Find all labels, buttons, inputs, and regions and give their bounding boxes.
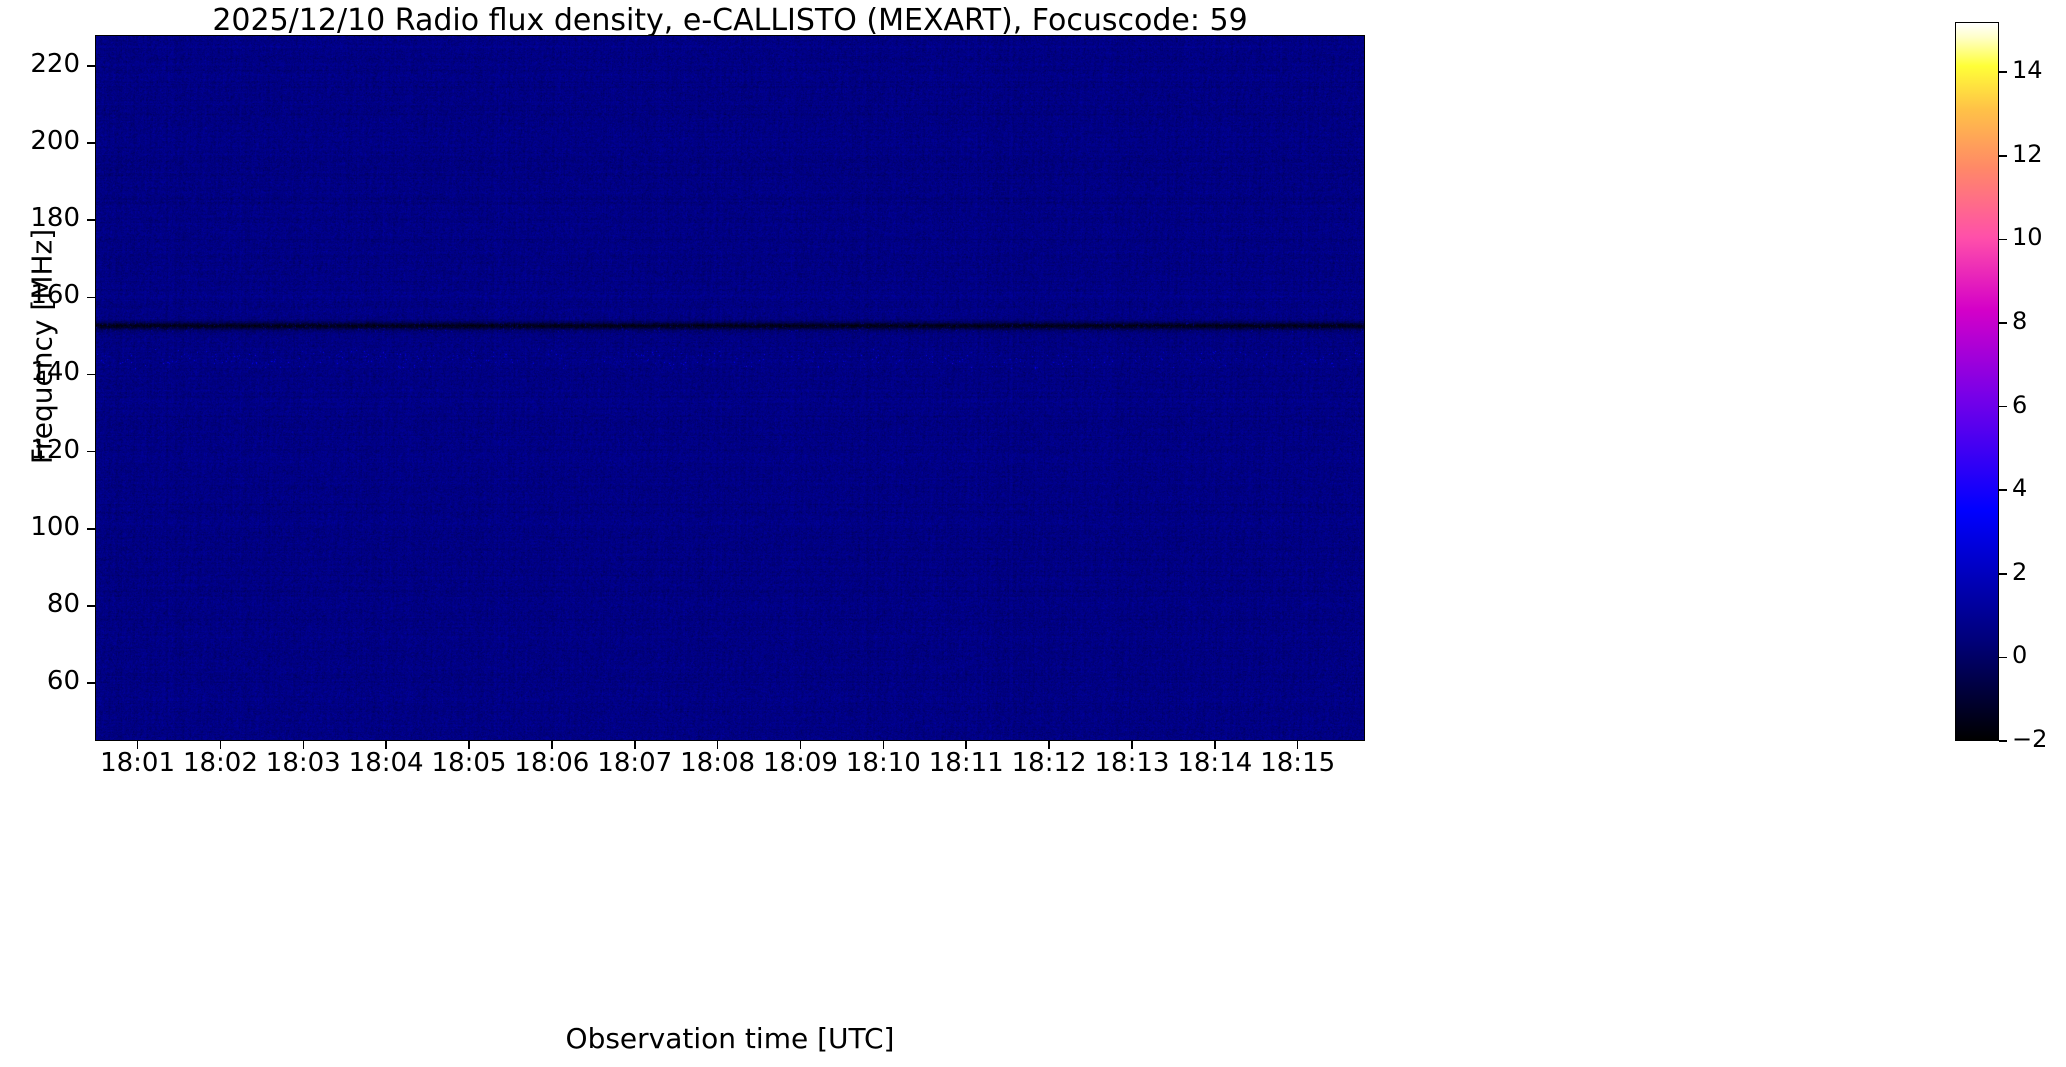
x-axis-label: Observation time [UTC] [95,1022,1365,1055]
colorbar-tick-mark [1999,489,2007,491]
colorbar-tick-label: 14 [2012,56,2043,84]
y-tick-label: 160 [0,280,80,310]
colorbar-tick-label: 10 [2012,223,2043,251]
colorbar[interactable] [1955,22,1999,741]
y-tick-label: 220 [0,49,80,79]
y-tick-label: 80 [0,589,80,619]
y-tick-mark [87,451,95,453]
colorbar-tick-mark [1999,657,2007,659]
y-tick-label: 100 [0,512,80,542]
y-tick-mark [87,142,95,144]
y-tick-mark [87,374,95,376]
colorbar-tick-label: 2 [2012,558,2027,586]
figure-canvas: 2025/12/10 Radio flux density, e-CALLIST… [0,0,2066,1067]
colorbar-tick-mark [1999,406,2007,408]
colorbar-tick-mark [1999,573,2007,575]
y-tick-mark [87,65,95,67]
y-tick-label: 60 [0,666,80,696]
colorbar-tick-label: 4 [2012,474,2027,502]
y-tick-label: 180 [0,203,80,233]
spectrogram-image [96,36,1365,741]
colorbar-tick-mark [1999,740,2007,742]
plot-title: 2025/12/10 Radio flux density, e-CALLIST… [95,3,1365,38]
colorbar-tick-mark [1999,239,2007,241]
y-tick-label: 140 [0,357,80,387]
colorbar-tick-mark [1999,71,2007,73]
colorbar-tick-label: 8 [2012,307,2027,335]
y-tick-label: 200 [0,126,80,156]
colorbar-tick-label: 12 [2012,140,2043,168]
colorbar-tick-label: −2 [2012,725,2047,753]
y-tick-mark [87,682,95,684]
colorbar-tick-label: 0 [2012,641,2027,669]
colorbar-tick-label: 6 [2012,391,2027,419]
y-tick-mark [87,528,95,530]
y-tick-mark [87,605,95,607]
colorbar-tick-mark [1999,155,2007,157]
x-tick-label: 18:15 [1238,748,1358,778]
y-tick-mark [87,219,95,221]
colorbar-tick-mark [1999,322,2007,324]
y-tick-mark [87,297,95,299]
y-tick-label: 120 [0,435,80,465]
spectrogram-axes[interactable] [95,35,1365,741]
